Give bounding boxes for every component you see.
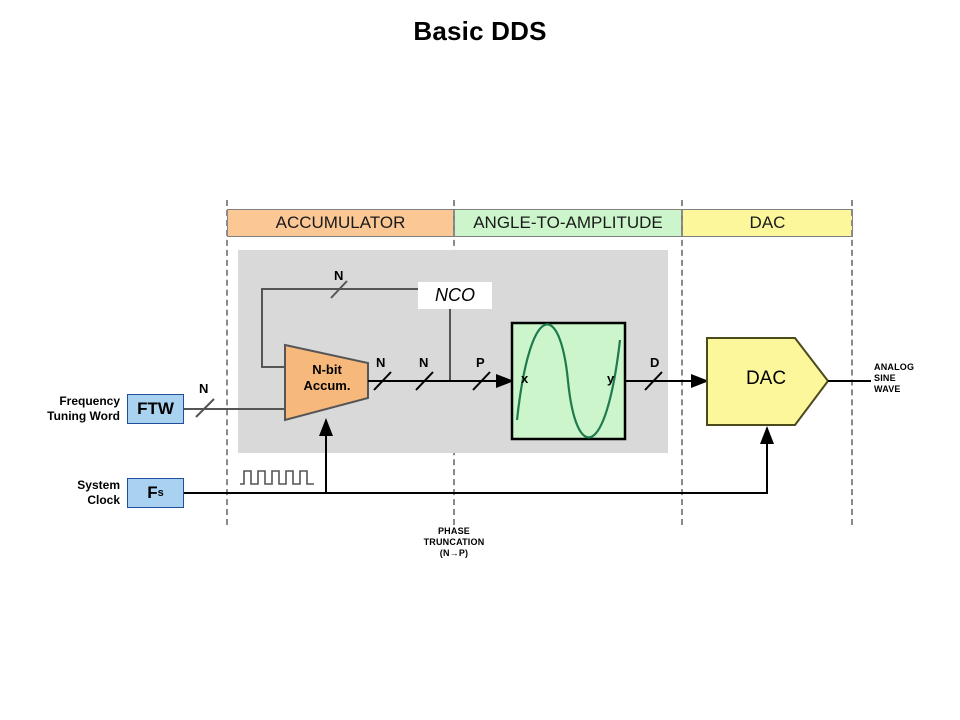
nco-label: NCO [418,282,492,309]
analog-output-annotation: ANALOG SINE WAVE [874,362,914,395]
ftw-caption-line2: Tuning Word [10,409,120,424]
clock-waveform-symbol [240,471,314,484]
lookup-input-label: x [521,371,528,386]
analog-output-line2: SINE [874,373,914,384]
bus-label-pre-truncation: N [419,355,428,370]
phase-truncation-line3: (N→P) [393,548,515,559]
lookup-output-label: y [607,371,614,386]
bus-label-accum-out: N [376,355,385,370]
clock-caption-line1: System [10,478,120,493]
accumulator-label-line1: N-bit [292,362,362,378]
wire-clock-to-accumulator [184,420,326,493]
analog-output-line3: WAVE [874,384,914,395]
clock-caption: System Clock [10,478,120,508]
bus-label-amplitude: D [650,355,659,370]
ftw-caption-line1: Frequency [10,394,120,409]
analog-output-line1: ANALOG [874,362,914,373]
phase-truncation-line2: TRUNCATION [393,537,515,548]
bus-label-feedback: N [334,268,343,283]
clock-caption-line2: Clock [10,493,120,508]
phase-truncation-annotation: PHASE TRUNCATION (N→P) [393,526,515,559]
bus-label-phase: P [476,355,485,370]
clock-box-label-subscript: s [158,487,164,499]
ftw-caption: Frequency Tuning Word [10,394,120,424]
accumulator-label-line2: Accum. [292,378,362,394]
clock-input-box[interactable]: Fs [127,478,184,508]
ftw-input-box[interactable]: FTW [127,394,184,424]
clock-box-label: F [147,483,157,503]
bus-label-ftw: N [199,381,208,396]
accumulator-label: N-bit Accum. [292,362,362,394]
dds-block-diagram: ACCUMULATOR ANGLE-TO-AMPLITUDE DAC [0,0,960,720]
phase-truncation-line1: PHASE [393,526,515,537]
dac-label: DAC [730,368,802,390]
